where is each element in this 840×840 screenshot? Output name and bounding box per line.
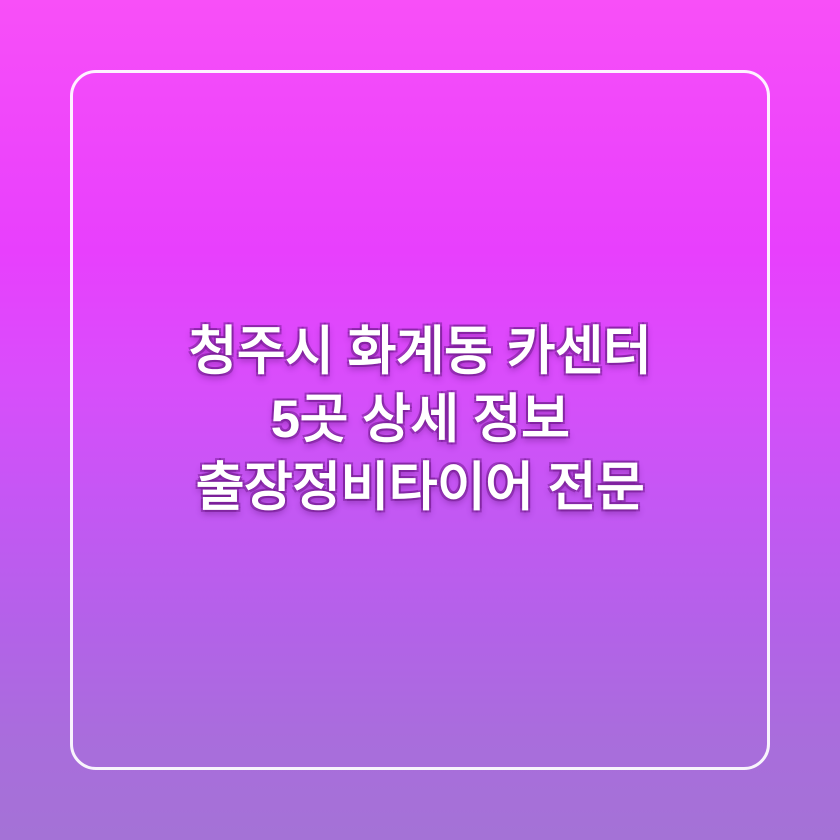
- title-line-2: 5곳 상세 정보: [70, 386, 770, 454]
- title-line-1: 청주시 화계동 카센터: [70, 318, 770, 386]
- poster-canvas: 청주시 화계동 카센터 5곳 상세 정보 출장정비타이어 전문: [0, 0, 840, 840]
- poster-title: 청주시 화계동 카센터 5곳 상세 정보 출장정비타이어 전문: [70, 318, 770, 521]
- title-line-3: 출장정비타이어 전문: [70, 454, 770, 522]
